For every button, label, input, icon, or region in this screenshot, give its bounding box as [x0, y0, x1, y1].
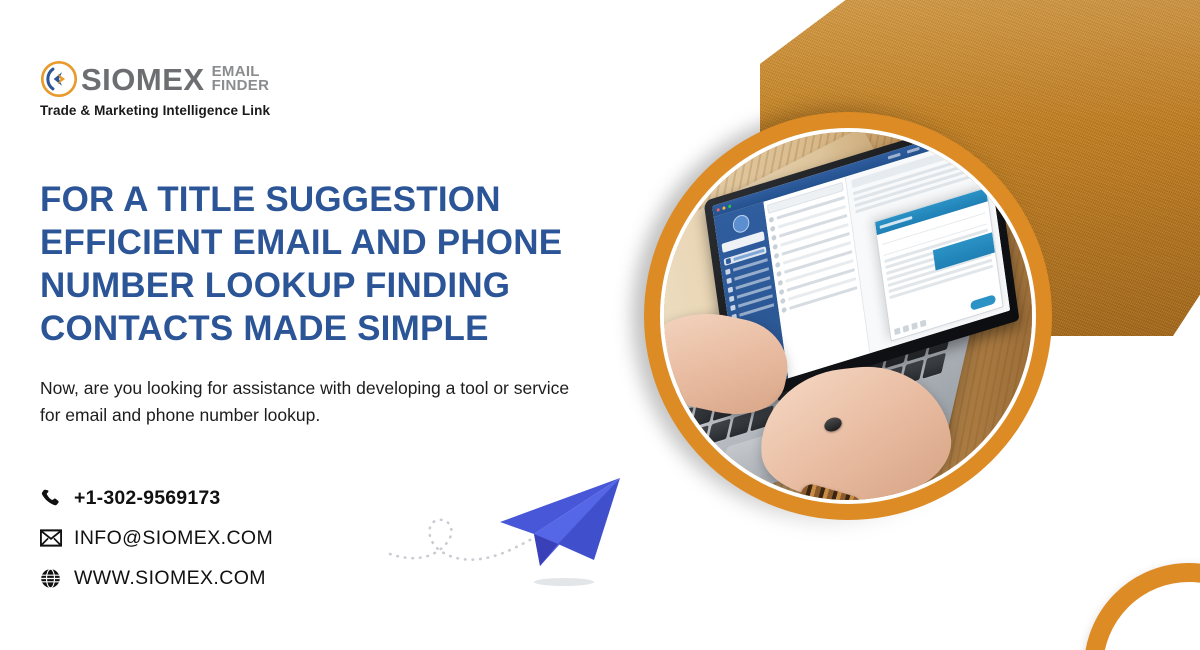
contact-item-email[interactable]: INFO@SIOMEX.COM: [40, 518, 273, 558]
contact-phone-label: +1-302-9569173: [74, 487, 220, 510]
contact-list: +1-302-9569173 INFO@SIOMEX.COM: [40, 478, 273, 598]
paper-plane-decoration: [388, 462, 640, 598]
brand-tagline: Trade & Marketing Intelligence Link: [40, 103, 270, 118]
corner-arc-decoration: [1084, 563, 1200, 650]
avatar: [731, 213, 750, 235]
envelope-icon: [40, 529, 66, 547]
brand-logo[interactable]: SIOMEX EMAIL FINDER Trade & Marketing In…: [40, 60, 270, 118]
contact-item-phone[interactable]: +1-302-9569173: [40, 478, 273, 518]
contact-item-website[interactable]: WWW.SIOMEX.COM: [40, 558, 273, 598]
contact-website-label: WWW.SIOMEX.COM: [74, 567, 266, 590]
marketing-banner: SIOMEX EMAIL FINDER Trade & Marketing In…: [0, 0, 1200, 650]
compose-window: [874, 187, 1004, 342]
hero-subcopy: Now, are you looking for assistance with…: [40, 375, 580, 429]
brand-product-line: EMAIL FINDER: [212, 65, 270, 94]
compose-send-button: [970, 294, 996, 311]
paper-plane-icon: [500, 478, 620, 566]
globe-icon: [40, 568, 66, 589]
photo-circle-image: [660, 128, 1036, 504]
brand-name: SIOMEX: [81, 64, 205, 95]
compose-toolbar: [894, 320, 926, 336]
plane-shadow: [534, 578, 594, 586]
brand-product-line-2: FINDER: [212, 79, 270, 93]
page-title: FOR A TITLE SUGGESTION EFFICIENT EMAIL A…: [40, 178, 620, 350]
photo-circle-frame: [644, 112, 1052, 520]
phone-icon: [40, 488, 66, 509]
siomex-emblem-icon: [40, 60, 78, 98]
contact-email-label: INFO@SIOMEX.COM: [74, 527, 273, 550]
